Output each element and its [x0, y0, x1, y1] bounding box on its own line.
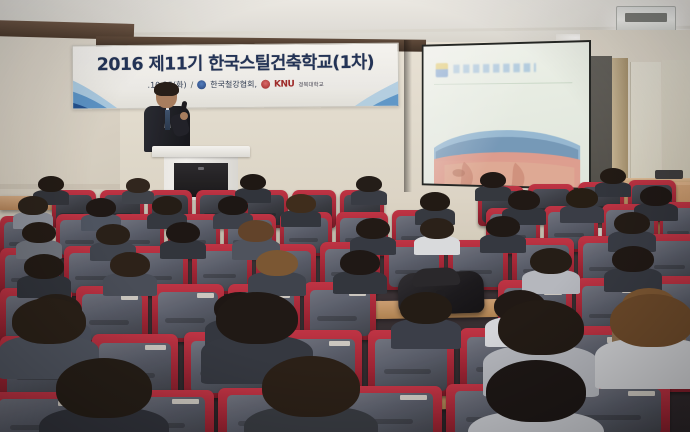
event-banner: 2016 제11기 한국스틸건축학교(1차) .10.25(화) / 한국철강협…	[72, 43, 400, 110]
presenter	[140, 84, 200, 150]
counter-equipment	[655, 170, 683, 179]
audience-member	[530, 248, 572, 290]
lectern-top	[152, 146, 250, 157]
slide-logo-icon	[436, 63, 448, 77]
presenter-tie	[165, 110, 170, 130]
lecture-hall-photo: 2016 제11기 한국스틸건축학교(1차) .10.25(화) / 한국철강협…	[0, 0, 690, 432]
audience-member	[166, 222, 200, 256]
audience-member	[400, 292, 452, 344]
projection-screen	[424, 42, 590, 188]
banner-org-secondary-name: 경북대학교	[298, 80, 323, 88]
audience-member	[420, 218, 454, 252]
audience-member	[126, 178, 150, 202]
presenter-hand	[180, 112, 188, 120]
audience-member	[22, 222, 56, 256]
audience-member	[24, 254, 64, 294]
screen-shadow	[404, 40, 412, 192]
audience-member	[56, 358, 152, 432]
banner-org-primary: 한국철강협회,	[210, 79, 257, 90]
lectern-control	[198, 167, 204, 170]
banner-title: 2016 제11기 한국스틸건축학교(1차)	[73, 49, 398, 77]
right-panel-a	[630, 62, 661, 182]
knu-logo-icon	[261, 80, 270, 89]
slide-graphic	[429, 120, 586, 188]
audience-member	[262, 356, 360, 432]
audience-member	[486, 216, 520, 250]
audience-member	[110, 252, 150, 292]
audience-member	[256, 250, 298, 292]
banner-org-secondary-mark: KNU	[274, 79, 294, 89]
audience-member	[610, 294, 690, 380]
audience-member	[486, 360, 586, 432]
audience-member	[480, 172, 506, 198]
audience-member	[340, 250, 380, 290]
audience-member	[566, 188, 598, 220]
slide-title-text	[453, 63, 536, 73]
audience-member	[286, 194, 316, 224]
backpack-flap	[412, 267, 461, 287]
audience-member	[614, 212, 650, 248]
audience-member	[356, 176, 382, 202]
audience-member	[356, 218, 390, 252]
audience-member	[600, 168, 626, 194]
presenter-hair	[154, 82, 179, 96]
projection-screen-frame	[422, 40, 591, 190]
slide-divider	[434, 82, 572, 85]
audience-member	[612, 246, 654, 288]
